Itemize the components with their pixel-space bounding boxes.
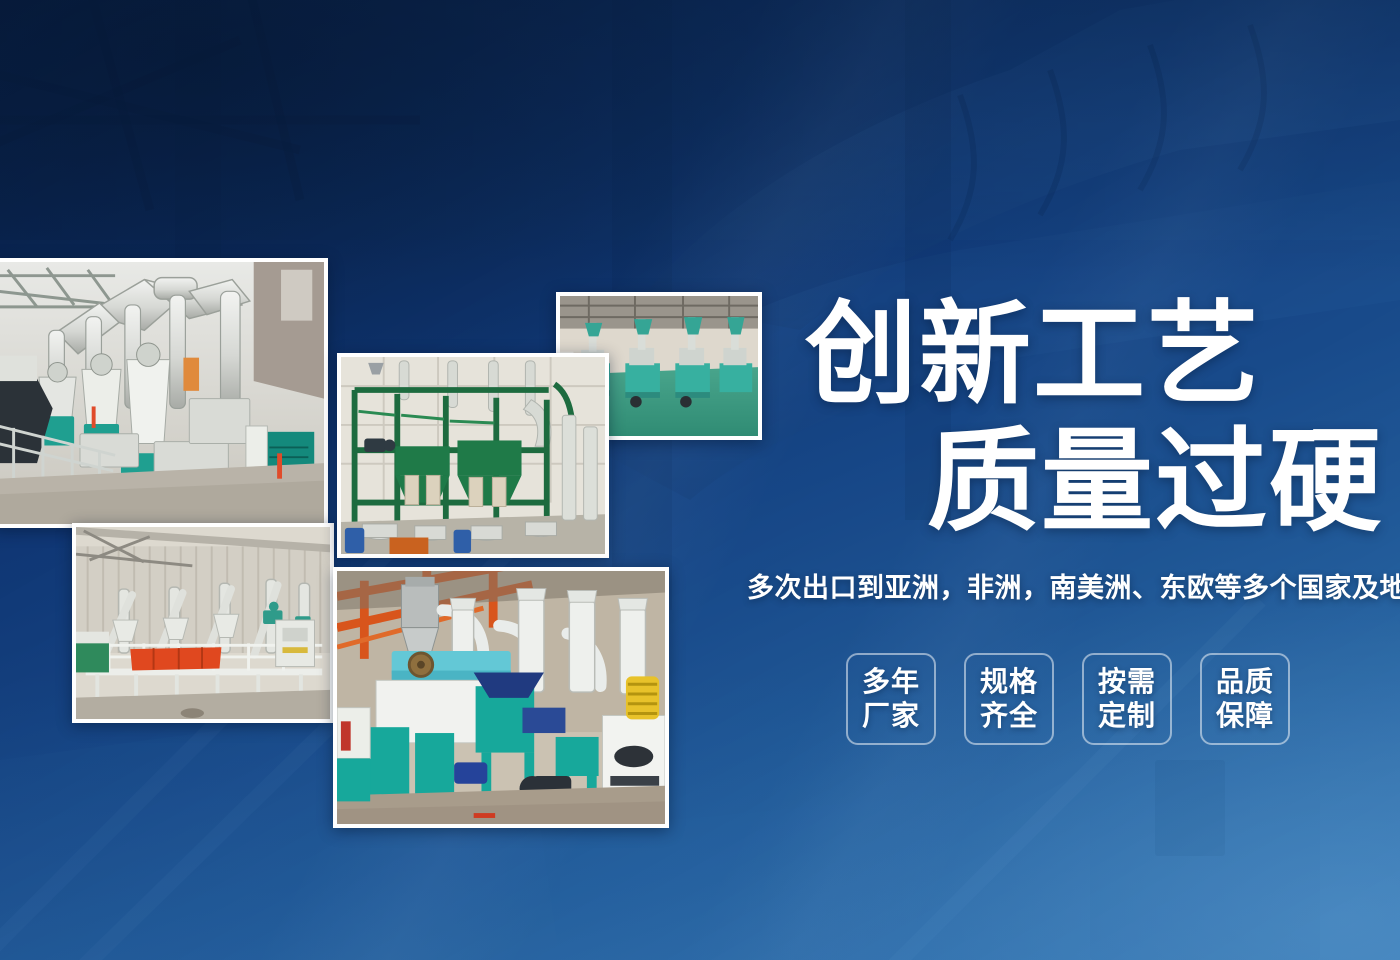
badge-line-top: 品质 (1216, 665, 1274, 699)
promotional-banner: 创新工艺 质量过硬 多次出口到亚洲，非洲，南美洲、东欧等多个国家及地区 多年 厂… (0, 0, 1400, 960)
feature-badge-years-manufacturer[interactable]: 多年 厂家 (846, 653, 936, 745)
badge-line-bottom: 定制 (1098, 699, 1156, 733)
headline-line-1: 创新工艺 (805, 292, 1261, 417)
feature-badge-custom-made[interactable]: 按需 定制 (1082, 653, 1172, 745)
headline-line-2: 质量过硬 (927, 422, 1383, 543)
feature-badge-row: 多年 厂家 规格 齐全 按需 定制 品质 保障 (846, 653, 1290, 745)
collage-photo-green-frame-mill[interactable] (337, 353, 609, 558)
badge-line-top: 规格 (980, 665, 1038, 699)
badge-line-top: 多年 (862, 665, 920, 699)
subtitle-text: 多次出口到亚洲，非洲，南美洲、东欧等多个国家及地区 (747, 566, 1400, 605)
badge-line-top: 按需 (1098, 665, 1156, 699)
badge-line-bottom: 保障 (1216, 699, 1274, 733)
page-title: 创新工艺 质量过硬 (805, 295, 1383, 543)
badge-line-bottom: 齐全 (980, 699, 1038, 733)
collage-photo-milling-plant-ducting[interactable] (0, 258, 328, 528)
collage-photo-production-line-conveyor[interactable] (72, 523, 334, 723)
feature-badge-full-specifications[interactable]: 规格 齐全 (964, 653, 1054, 745)
collage-photo-teal-white-machinery[interactable] (333, 567, 669, 828)
badge-line-bottom: 厂家 (862, 699, 920, 733)
feature-badge-quality-guarantee[interactable]: 品质 保障 (1200, 653, 1290, 745)
